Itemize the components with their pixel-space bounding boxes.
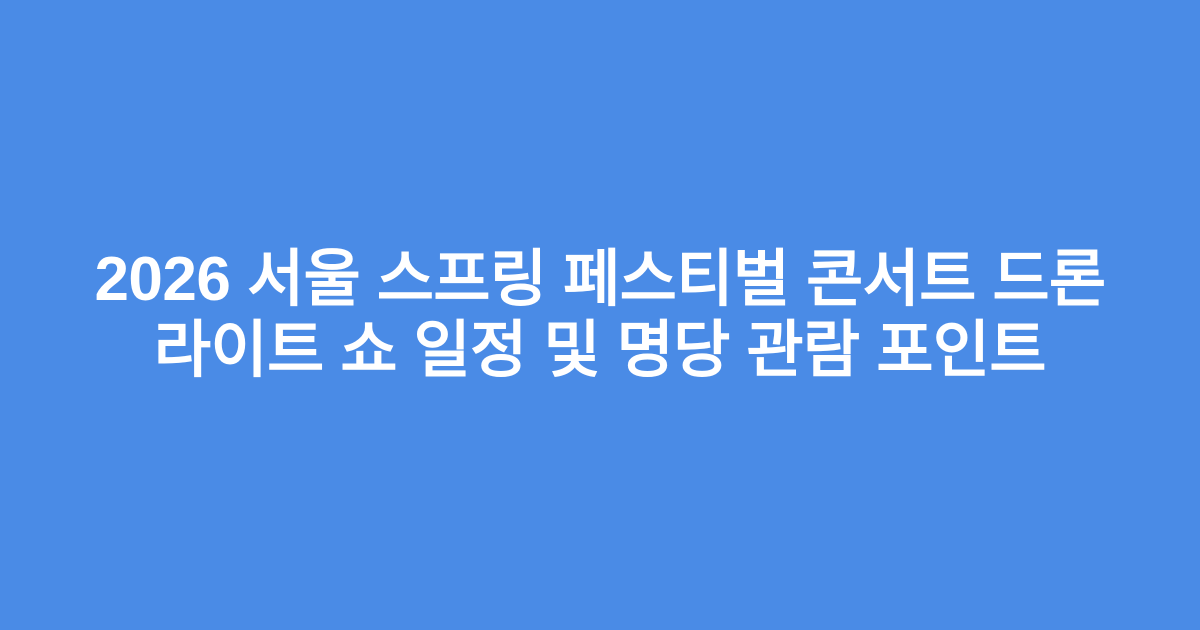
page-title: 2026 서울 스프링 페스티벌 콘서트 드론 라이트 쇼 일정 및 명당 관람… (80, 244, 1120, 386)
og-share-card: 2026 서울 스프링 페스티벌 콘서트 드론 라이트 쇼 일정 및 명당 관람… (0, 0, 1200, 630)
title-block: 2026 서울 스프링 페스티벌 콘서트 드론 라이트 쇼 일정 및 명당 관람… (70, 244, 1130, 386)
